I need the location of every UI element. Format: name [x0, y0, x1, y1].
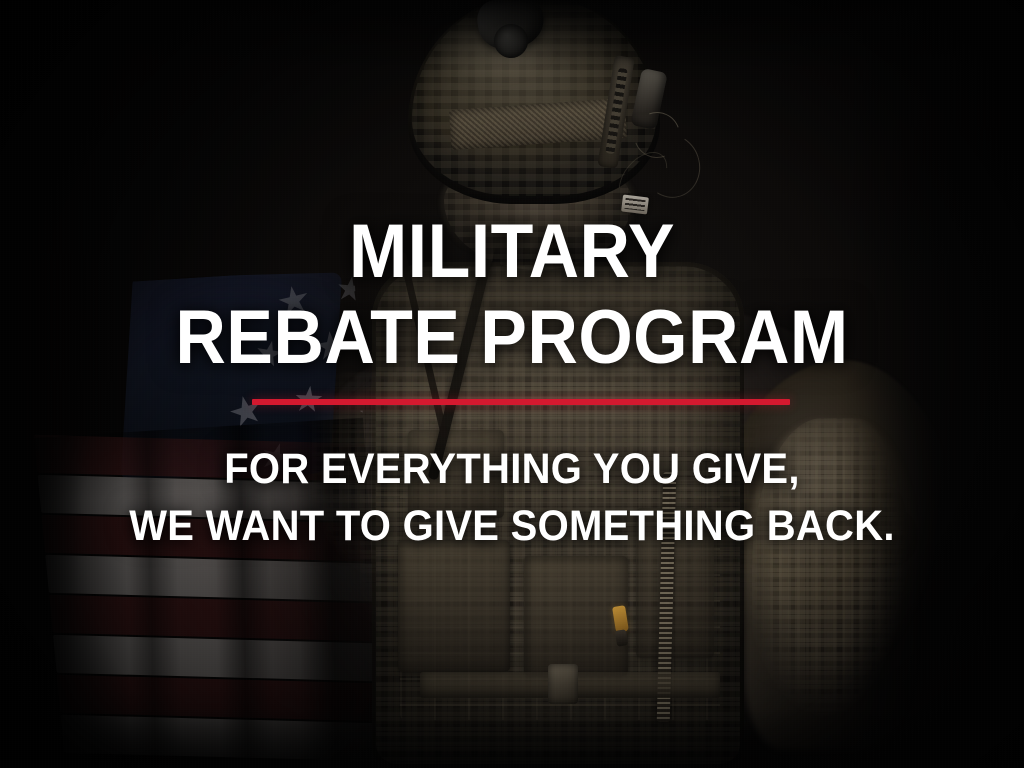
red-divider-rule	[252, 399, 790, 405]
headline-line-1: MILITARY	[41, 216, 983, 289]
subtitle-line-2: WE WANT TO GIVE SOMETHING BACK.	[36, 505, 988, 548]
military-rebate-poster: MILITARY REBATE PROGRAM FOR EVERYTHING Y…	[0, 0, 1024, 768]
headline-line-2: REBATE PROGRAM	[41, 302, 983, 375]
subtitle-line-1: FOR EVERYTHING YOU GIVE,	[36, 448, 988, 491]
poster-text-layer: MILITARY REBATE PROGRAM FOR EVERYTHING Y…	[0, 0, 1024, 768]
